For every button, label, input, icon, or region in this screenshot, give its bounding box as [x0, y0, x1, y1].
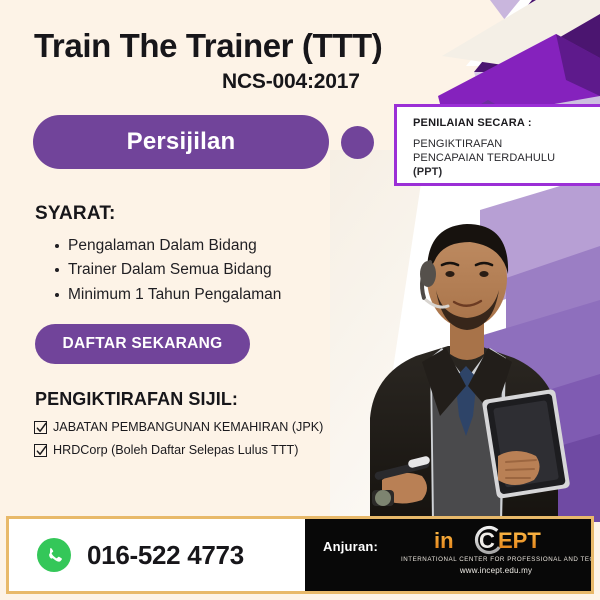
checkbox-checked-icon[interactable] [34, 444, 47, 457]
incept-tagline: INTERNATIONAL CENTER FOR PROFESSIONAL AN… [401, 556, 591, 563]
penilaian-line-3: (PPT) [413, 165, 600, 179]
penilaian-line-1: PENGIKTIRAFAN [413, 137, 600, 151]
organizer-label: Anjuran: [323, 539, 378, 554]
phone-number: 016-522 4773 [87, 540, 244, 571]
persijilan-pill-label: Persijilan [127, 128, 236, 156]
penilaian-line-2: PENCAPAIAN TERDAHULU [413, 151, 600, 165]
certification-heading: PENGIKTIRAFAN SIJIL: [35, 389, 238, 410]
requirements-heading: SYARAT: [35, 203, 116, 225]
persijilan-pill[interactable]: Persijilan [33, 115, 329, 169]
penilaian-body: PENGIKTIRAFAN PENCAPAIAN TERDAHULU (PPT) [413, 137, 600, 179]
certification-label: JABATAN PEMBANGUNAN KEMAHIRAN (JPK) [53, 420, 323, 434]
poster-canvas: Train The Trainer (TTT) NCS-004:2017 Per… [0, 0, 600, 600]
svg-text:C: C [479, 528, 495, 553]
presenter-photo [330, 150, 600, 522]
incept-website: www.incept.edu.my [401, 566, 591, 575]
svg-text:in: in [434, 528, 454, 553]
certification-list: JABATAN PEMBANGUNAN KEMAHIRAN (JPK) HRDC… [34, 420, 354, 467]
list-item: HRDCorp (Boleh Daftar Selepas Lulus TTT) [34, 443, 354, 457]
svg-text:EPT: EPT [498, 528, 541, 553]
daftar-sekarang-label: DAFTAR SEKARANG [62, 335, 222, 353]
list-item: JABATAN PEMBANGUNAN KEMAHIRAN (JPK) [34, 420, 354, 434]
requirements-list: Pengalaman Dalam Bidang Trainer Dalam Se… [50, 234, 281, 307]
checkbox-checked-icon[interactable] [34, 421, 47, 434]
list-item: Pengalaman Dalam Bidang [68, 234, 281, 258]
standard-code: NCS-004:2017 [222, 70, 360, 94]
incept-logo: in C EPT INTERNATIONAL CENTER FOR PROFES… [401, 525, 591, 575]
footer-organizer: Anjuran: [305, 519, 591, 591]
decorative-dot [341, 126, 374, 159]
daftar-sekarang-button[interactable]: DAFTAR SEKARANG [35, 324, 250, 364]
incept-logo-mark: in C EPT [401, 525, 591, 555]
page-title: Train The Trainer (TTT) [34, 28, 382, 64]
certification-label: HRDCorp (Boleh Daftar Selepas Lulus TTT) [53, 443, 298, 457]
list-item: Minimum 1 Tahun Pengalaman [68, 283, 281, 307]
footer-bar: 016-522 4773 Anjuran: [6, 516, 594, 594]
list-item: Trainer Dalam Semua Bidang [68, 258, 281, 282]
penilaian-note-box: PENILAIAN SECARA : PENGIKTIRAFAN PENCAPA… [394, 104, 600, 186]
penilaian-title: PENILAIAN SECARA : [413, 117, 600, 129]
phone-icon [37, 538, 71, 572]
footer-contact[interactable]: 016-522 4773 [9, 519, 305, 591]
